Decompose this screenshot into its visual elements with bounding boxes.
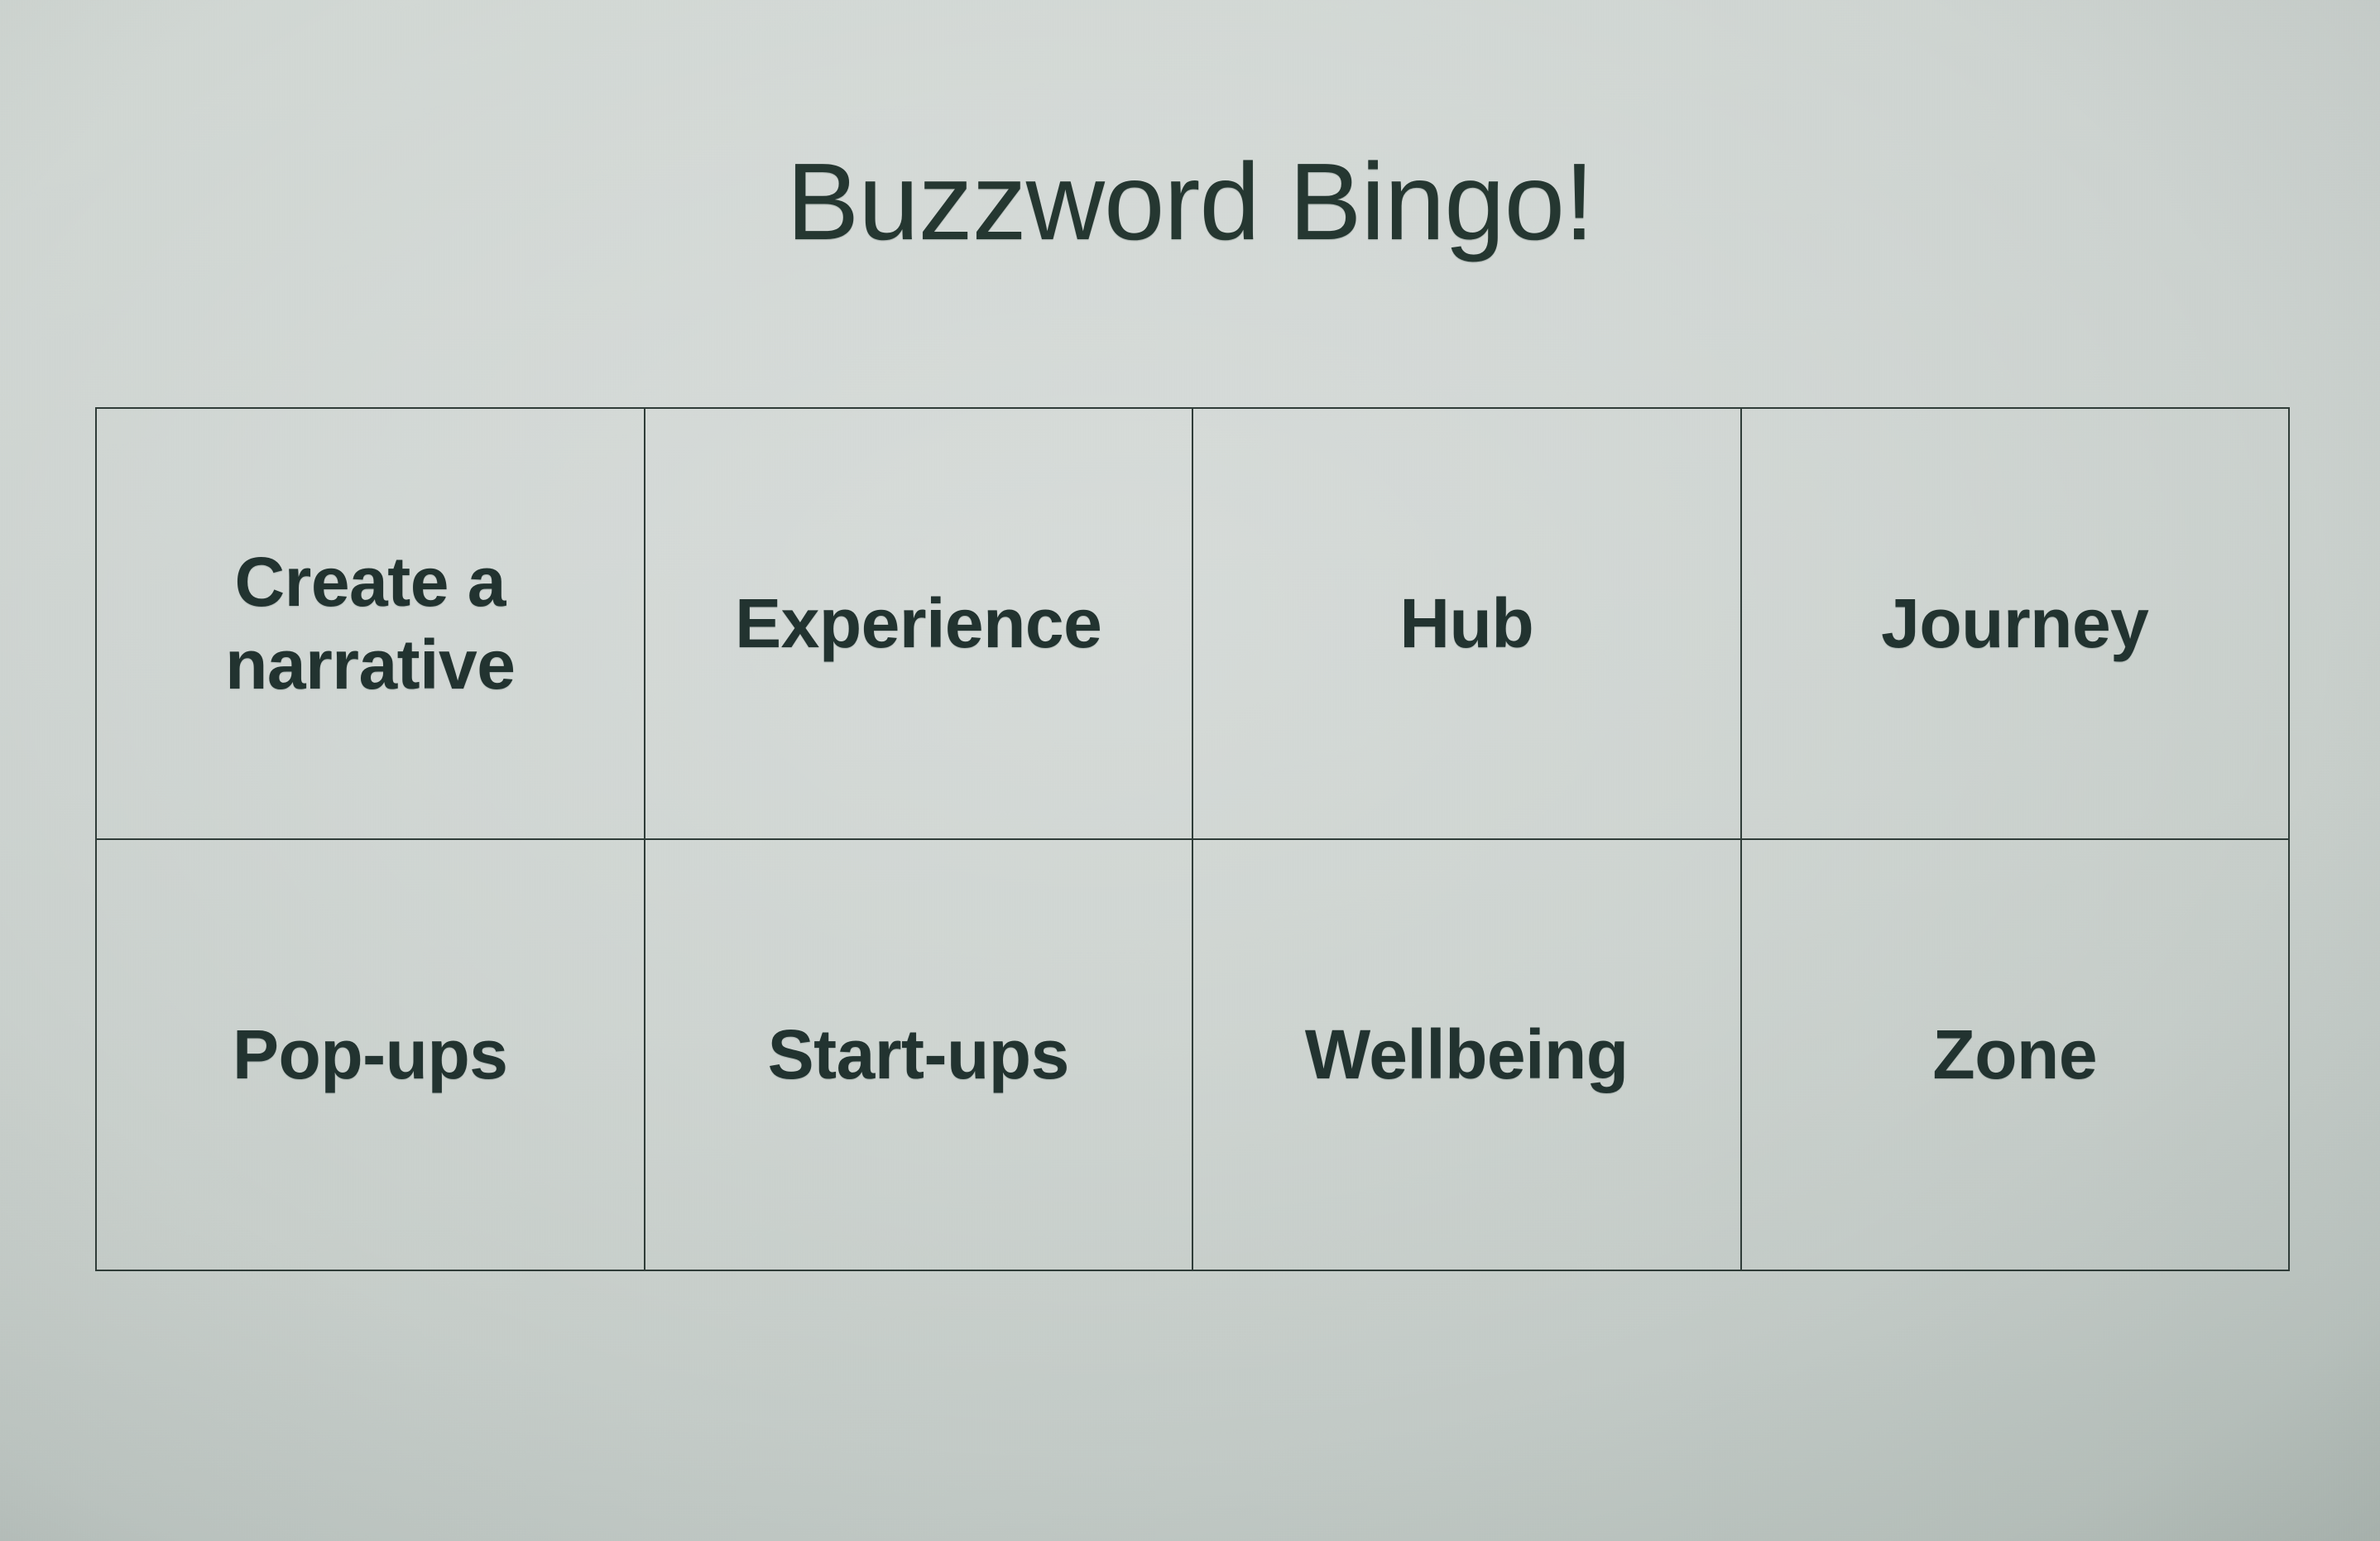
bingo-cell-wellbeing[interactable]: Wellbeing [1192, 839, 1741, 1270]
page-title: Buzzword Bingo! [0, 147, 2380, 257]
bingo-cell-journey[interactable]: Journey [1741, 408, 2290, 839]
table-row: Create a narrative Experience Hub Journe… [96, 408, 2289, 839]
bingo-grid: Create a narrative Experience Hub Journe… [95, 407, 2290, 1271]
bingo-cell-label: Pop-ups [112, 1014, 629, 1096]
bingo-cell-label: Zone [1757, 1014, 2274, 1096]
bingo-cell-experience[interactable]: Experience [645, 408, 1193, 839]
bingo-cell-label: Start-ups [660, 1014, 1178, 1096]
bingo-cell-start-ups[interactable]: Start-ups [645, 839, 1193, 1270]
bingo-cell-label: Journey [1757, 583, 2274, 665]
bingo-cell-label: Hub [1208, 583, 1725, 665]
bingo-cell-create-a-narrative[interactable]: Create a narrative [96, 408, 645, 839]
bingo-cell-hub[interactable]: Hub [1192, 408, 1741, 839]
bingo-cell-label: Wellbeing [1208, 1014, 1725, 1096]
buzzword-bingo-sheet: Buzzword Bingo! Create a narrative Exper… [0, 0, 2380, 1541]
bingo-cell-zone[interactable]: Zone [1741, 839, 2290, 1270]
bingo-cell-label: Experience [660, 583, 1178, 665]
table-row: Pop-ups Start-ups Wellbeing Zone [96, 839, 2289, 1270]
bingo-cell-pop-ups[interactable]: Pop-ups [96, 839, 645, 1270]
bingo-cell-label: Create a narrative [112, 541, 629, 705]
